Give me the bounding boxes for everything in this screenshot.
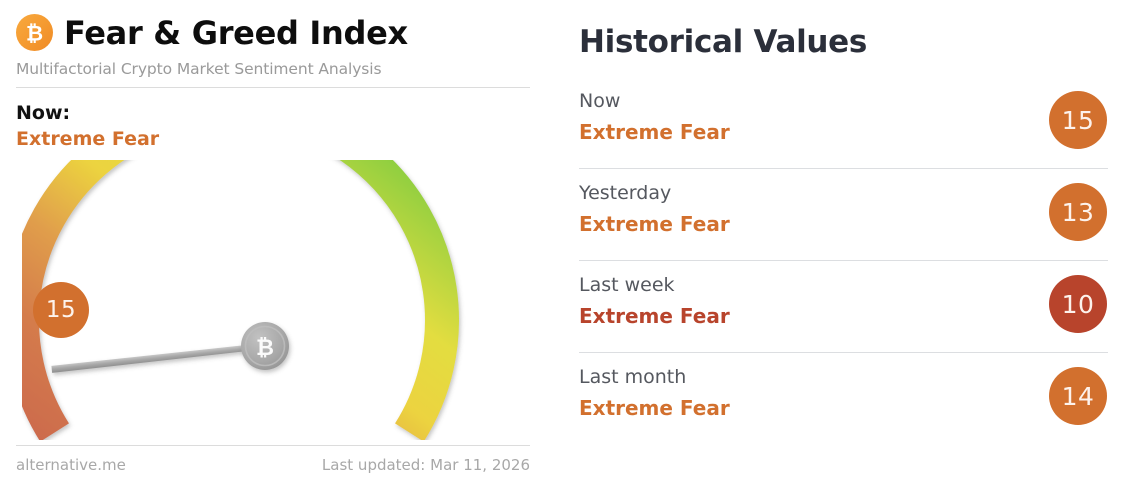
historical-list: Now Extreme Fear 15 Yesterday Extreme Fe… [579,77,1108,445]
historical-title: Historical Values [579,0,1108,60]
value-badge: 14 [1049,367,1107,425]
list-item[interactable]: Yesterday Extreme Fear 13 [579,169,1108,261]
classification-label: Extreme Fear [579,397,1108,420]
classification-label: Extreme Fear [579,305,1108,328]
card-footer: alternative.me Last updated: Mar 11, 202… [16,456,530,474]
fear-greed-index-widget: ₿ Fear & Greed Index Multifactorial Cryp… [0,0,1133,490]
value-badge: 13 [1049,183,1107,241]
period-label: Now [579,77,1108,113]
page-subtitle: Multifactorial Crypto Market Sentiment A… [16,60,530,78]
list-item[interactable]: Now Extreme Fear 15 [579,77,1108,169]
gauge-dial: ₿ [22,160,482,440]
svg-text:₿: ₿ [256,336,274,361]
classification-label: Extreme Fear [579,213,1108,236]
now-classification: Extreme Fear [16,127,530,152]
footer-divider [16,445,530,446]
brand-header: ₿ Fear & Greed Index [16,0,530,51]
period-label: Yesterday [579,169,1108,205]
period-label: Last week [579,261,1108,297]
last-updated-label: Last updated: Mar 11, 2026 [322,456,530,474]
gauge-value-badge: 15 [33,282,89,338]
value-badge: 15 [1049,91,1107,149]
value-badge: 10 [1049,275,1107,333]
gauge-card: ₿ Fear & Greed Index Multifactorial Cryp… [0,0,546,490]
gauge: ₿ 15 [0,160,546,440]
source-label[interactable]: alternative.me [16,456,126,474]
period-label: Last month [579,353,1108,389]
historical-values-card: Historical Values Now Extreme Fear 15 Ye… [546,0,1133,490]
list-item[interactable]: Last week Extreme Fear 10 [579,261,1108,353]
page-title: Fear & Greed Index [64,17,408,49]
list-item[interactable]: Last month Extreme Fear 14 [579,353,1108,445]
classification-label: Extreme Fear [579,121,1108,144]
bitcoin-icon: ₿ [16,14,53,51]
header-divider [16,87,530,88]
now-label: Now: [16,102,530,126]
svg-text:₿: ₿ [26,22,43,46]
